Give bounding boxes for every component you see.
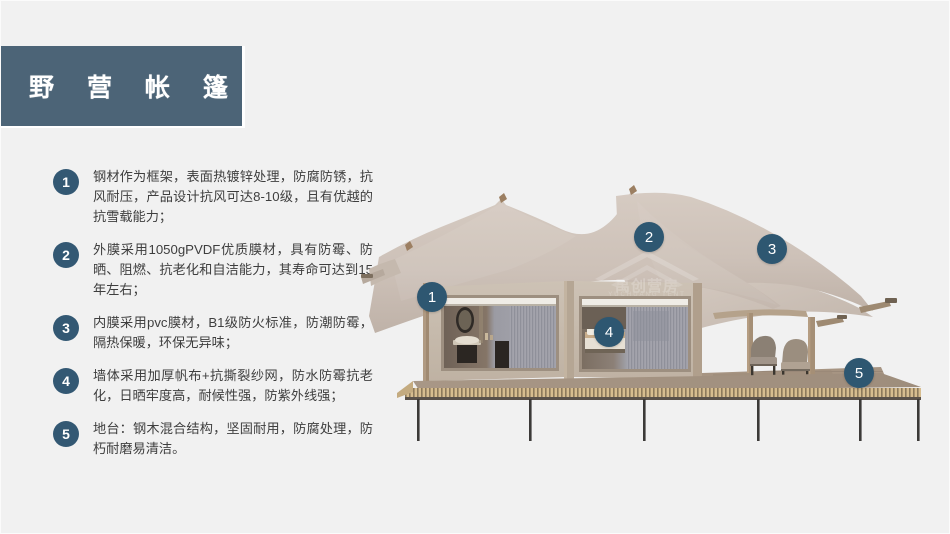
feature-list: 1 钢材作为框架，表面热镀锌处理，防腐防锈，抗风耐压，产品设计抗风可达8-10级…: [53, 167, 373, 472]
feature-text-5: 地台：钢木混合结构，坚固耐用，防腐处理，防朽耐磨易清洁。: [93, 419, 373, 459]
page-title: 野 营 帐 篷: [1, 68, 241, 104]
title-banner: 野 营 帐 篷: [1, 46, 245, 128]
slide-canvas: 野 营 帐 篷 1 钢材作为框架，表面热镀锌处理，防腐防锈，抗风耐压，产品设计抗…: [0, 0, 950, 534]
feature-badge-2: 2: [53, 242, 79, 268]
list-item: 5 地台：钢木混合结构，坚固耐用，防腐处理，防朽耐磨易清洁。: [53, 419, 373, 459]
feature-text-2: 外膜采用1050gPVDF优质膜材，具有防霉、防晒、阻燃、抗老化和自洁能力，其寿…: [93, 240, 373, 300]
callout-badge-2[interactable]: 2: [634, 222, 664, 252]
feature-badge-3: 3: [53, 315, 79, 341]
feature-text-4: 墙体采用加厚帆布+抗撕裂纱网，防水防霉抗老化，日晒牢度高，耐候性强，防紫外线强；: [93, 366, 373, 406]
list-item: 2 外膜采用1050gPVDF优质膜材，具有防霉、防晒、阻燃、抗老化和自洁能力，…: [53, 240, 373, 300]
callout-badge-1[interactable]: 1: [417, 282, 447, 312]
callout-badge-5[interactable]: 5: [844, 358, 874, 388]
feature-badge-5: 5: [53, 421, 79, 447]
list-item: 4 墙体采用加厚帆布+抗撕裂纱网，防水防霉抗老化，日晒牢度高，耐候性强，防紫外线…: [53, 366, 373, 406]
list-item: 3 内膜采用pvc膜材，B1级防火标准，防潮防霉，隔热保暖，环保无异味；: [53, 313, 373, 353]
feature-badge-1: 1: [53, 169, 79, 195]
feature-text-3: 内膜采用pvc膜材，B1级防火标准，防潮防霉，隔热保暖，环保无异味；: [93, 313, 373, 353]
callout-badge-3[interactable]: 3: [757, 234, 787, 264]
list-item: 1 钢材作为框架，表面热镀锌处理，防腐防锈，抗风耐压，产品设计抗风可达8-10级…: [53, 167, 373, 227]
callout-badge-4[interactable]: 4: [594, 317, 624, 347]
feature-text-1: 钢材作为框架，表面热镀锌处理，防腐防锈，抗风耐压，产品设计抗风可达8-10级，且…: [93, 167, 373, 227]
tent-illustration: [361, 141, 950, 441]
feature-badge-4: 4: [53, 368, 79, 394]
